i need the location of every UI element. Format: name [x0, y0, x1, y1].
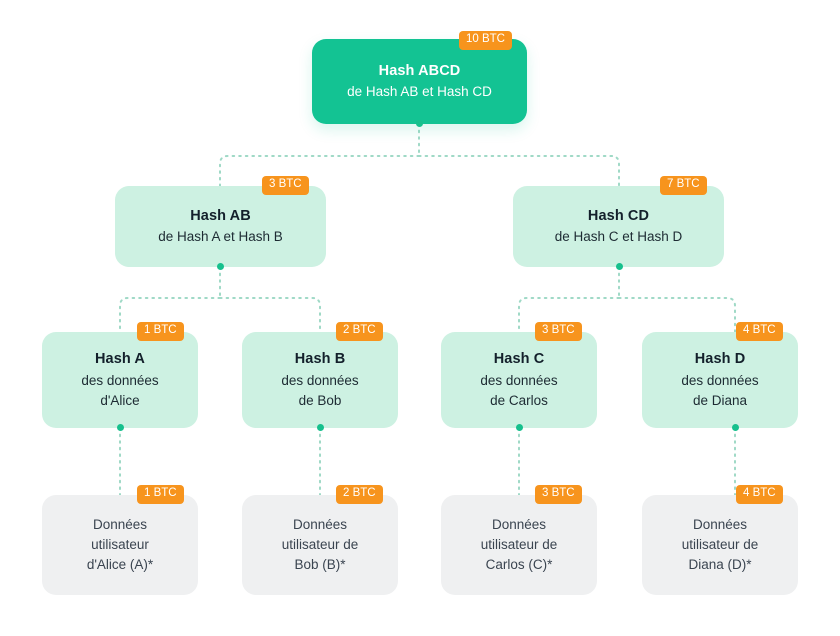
- node-title: Hash AB: [190, 206, 251, 228]
- node-subtitle-line: Diana (D)*: [688, 555, 751, 575]
- badge-hash-a: 1 BTC: [137, 322, 184, 341]
- node-hash-a[interactable]: Hash A des données d'Alice: [42, 332, 198, 428]
- badge-data-carlos: 3 BTC: [535, 485, 582, 504]
- node-hash-cd[interactable]: Hash CD de Hash C et Hash D: [513, 186, 724, 267]
- node-hash-ab[interactable]: Hash AB de Hash A et Hash B: [115, 186, 326, 267]
- connector-dot-root: [416, 120, 423, 127]
- node-subtitle-line: de Carlos: [490, 391, 548, 411]
- node-hash-c[interactable]: Hash C des données de Carlos: [441, 332, 597, 428]
- node-subtitle-line: Données: [492, 515, 546, 535]
- node-subtitle-line: Données: [693, 515, 747, 535]
- connector-root-to-cd: [419, 156, 619, 186]
- node-subtitle-line: d'Alice: [100, 391, 139, 411]
- node-subtitle-line: Bob (B)*: [294, 555, 345, 575]
- connector-dot-hash-a: [117, 424, 124, 431]
- node-title: Hash C: [494, 349, 545, 371]
- badge-data-bob: 2 BTC: [336, 485, 383, 504]
- node-subtitle-line: des données: [480, 371, 557, 391]
- node-title: Hash D: [695, 349, 746, 371]
- node-subtitle-line: des données: [281, 371, 358, 391]
- node-subtitle-line: des données: [81, 371, 158, 391]
- node-subtitle-line: utilisateur de: [481, 535, 558, 555]
- connector-ab-to-b: [220, 298, 320, 332]
- node-subtitle-line: Données: [293, 515, 347, 535]
- node-subtitle-line: de Hash C et Hash D: [555, 227, 683, 247]
- connector-root-to-ab: [220, 156, 419, 186]
- merkle-tree-diagram: Hash ABCD de Hash AB et Hash CD 10 BTC H…: [0, 0, 840, 636]
- node-subtitle-line: Carlos (C)*: [486, 555, 553, 575]
- node-data-bob[interactable]: Données utilisateur de Bob (B)*: [242, 495, 398, 595]
- node-title: Hash ABCD: [379, 61, 461, 83]
- node-subtitle-line: utilisateur de: [682, 535, 759, 555]
- connector-dot-hash-d: [732, 424, 739, 431]
- badge-data-alice: 1 BTC: [137, 485, 184, 504]
- node-data-diana[interactable]: Données utilisateur de Diana (D)*: [642, 495, 798, 595]
- badge-hash-b: 2 BTC: [336, 322, 383, 341]
- node-hash-b[interactable]: Hash B des données de Bob: [242, 332, 398, 428]
- badge-hash-ab: 3 BTC: [262, 176, 309, 195]
- connector-dot-hash-c: [516, 424, 523, 431]
- node-hash-abcd[interactable]: Hash ABCD de Hash AB et Hash CD: [312, 39, 527, 124]
- node-subtitle-line: d'Alice (A)*: [87, 555, 153, 575]
- node-subtitle-line: de Hash A et Hash B: [158, 227, 283, 247]
- badge-hash-c: 3 BTC: [535, 322, 582, 341]
- badge-hash-cd: 7 BTC: [660, 176, 707, 195]
- node-subtitle-line: de Hash AB et Hash CD: [347, 82, 492, 102]
- connector-cd-to-d: [619, 298, 735, 332]
- connector-dot-hash-ab: [217, 263, 224, 270]
- connector-dot-hash-cd: [616, 263, 623, 270]
- node-subtitle-line: de Diana: [693, 391, 747, 411]
- node-subtitle-line: de Bob: [299, 391, 342, 411]
- node-title: Hash B: [295, 349, 346, 371]
- node-subtitle-line: Données: [93, 515, 147, 535]
- badge-hash-d: 4 BTC: [736, 322, 783, 341]
- connector-dot-hash-b: [317, 424, 324, 431]
- node-data-alice[interactable]: Données utilisateur d'Alice (A)*: [42, 495, 198, 595]
- badge-data-diana: 4 BTC: [736, 485, 783, 504]
- node-subtitle-line: des données: [681, 371, 758, 391]
- badge-hash-abcd: 10 BTC: [459, 31, 512, 50]
- node-title: Hash A: [95, 349, 145, 371]
- node-subtitle-line: utilisateur de: [282, 535, 359, 555]
- node-hash-d[interactable]: Hash D des données de Diana: [642, 332, 798, 428]
- node-subtitle-line: utilisateur: [91, 535, 149, 555]
- node-title: Hash CD: [588, 206, 649, 228]
- node-data-carlos[interactable]: Données utilisateur de Carlos (C)*: [441, 495, 597, 595]
